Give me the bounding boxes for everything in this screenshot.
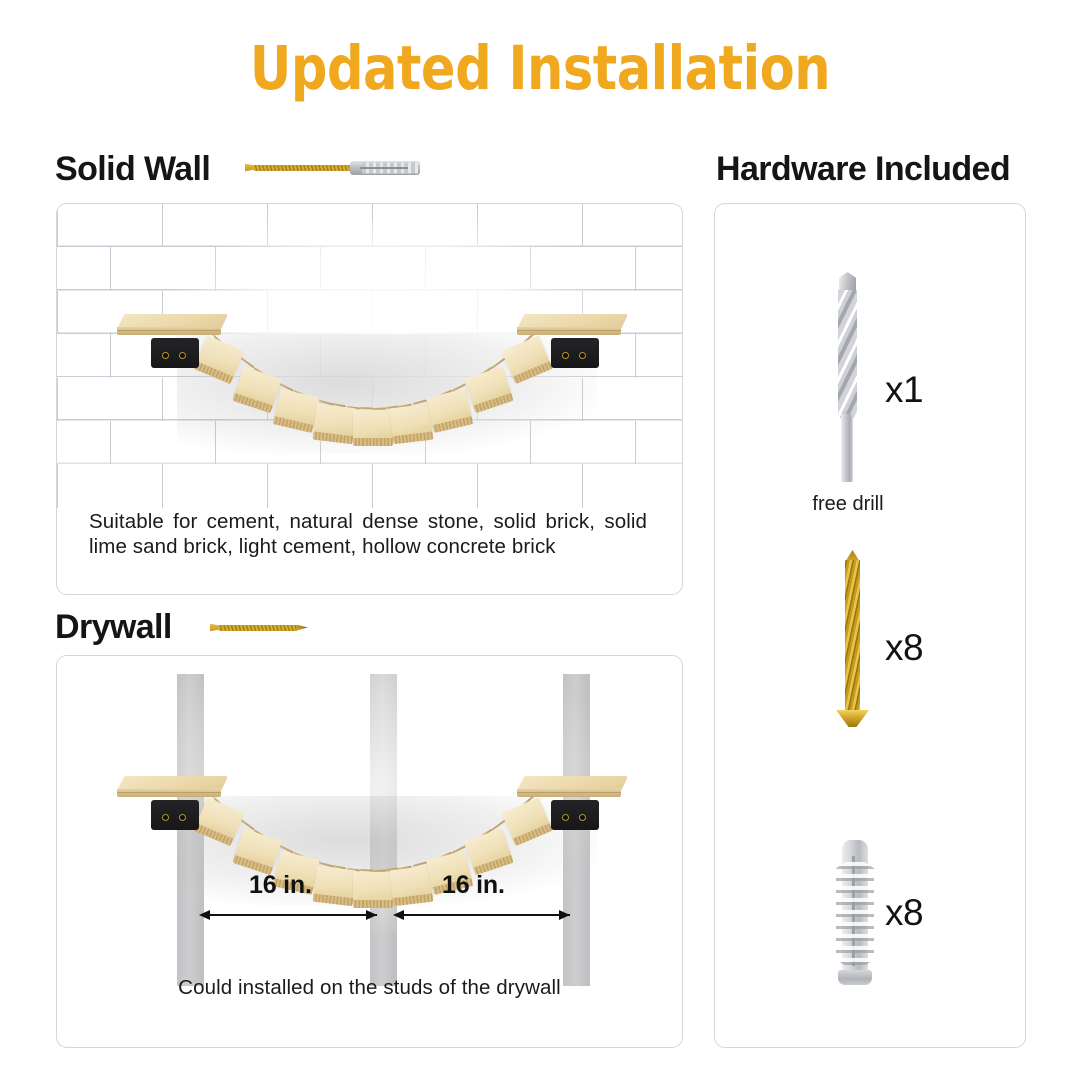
section-heading-drywall: Drywall — [55, 608, 172, 647]
wall-shelf-left — [117, 776, 221, 796]
drywall-scene: 16 in. 16 in. — [57, 656, 682, 986]
bridge-rope — [518, 797, 533, 810]
wall-stud — [563, 674, 590, 986]
anchor-slot — [360, 167, 408, 169]
screw-shank — [254, 165, 350, 171]
bridge-plank — [464, 828, 511, 869]
bridge-rope — [439, 852, 453, 860]
bridge-rope — [267, 838, 281, 848]
bridge-rope — [426, 857, 440, 864]
screw-tip — [296, 625, 308, 631]
infographic-canvas: Updated Installation Solid Wall Suitable… — [0, 0, 1080, 1080]
bridge-rope — [531, 784, 546, 798]
shelf-edge — [117, 789, 221, 797]
dimension-label-right: 16 in. — [442, 871, 505, 900]
wall-anchor-icon — [350, 159, 420, 177]
page-title: Updated Installation — [38, 33, 1042, 104]
screw-shank — [219, 625, 297, 631]
bracket-screw-hole — [162, 814, 169, 821]
brick-wall-scene — [57, 204, 682, 506]
hardware-count-anchor: x8 — [885, 892, 923, 934]
dimension-line-right — [397, 914, 570, 916]
dimension-arrow-right-end — [559, 910, 570, 920]
bridge-rope — [346, 868, 359, 872]
section-heading-hardware: Hardware Included — [716, 150, 1010, 189]
hardware-caption-drill: free drill — [770, 493, 926, 516]
drill-bit-flute — [838, 290, 857, 418]
bridge-rope — [478, 829, 493, 840]
bridge-plank — [313, 865, 356, 900]
solid-wall-caption: Suitable for cement, natural dense stone… — [89, 509, 647, 559]
screw-icon — [210, 621, 310, 634]
bridge-plank — [502, 797, 551, 840]
bridge-rope — [320, 862, 334, 868]
dimension-arrow-left-start — [199, 910, 210, 920]
brick-mortar-joints — [57, 204, 682, 506]
bridge-rope — [465, 838, 479, 848]
drywall-caption: Could installed on the studs of the dryw… — [56, 976, 683, 1000]
dimension-arrow-left-end — [366, 910, 377, 920]
dimension-line-left — [203, 914, 377, 916]
bridge-rope — [227, 809, 242, 822]
screw-icon — [835, 560, 869, 735]
wall-anchor-icon — [833, 840, 877, 990]
screw-icon — [245, 161, 365, 174]
bridge-rope — [505, 809, 520, 822]
bridge-rope — [333, 865, 347, 870]
hardware-count-screw: x8 — [885, 627, 923, 669]
solid-wall-panel: Suitable for cement, natural dense stone… — [56, 203, 683, 595]
bridge-rope — [213, 797, 228, 810]
bridge-rope — [452, 845, 466, 854]
bridge-rope — [306, 857, 320, 864]
screw-head — [836, 710, 869, 727]
bridge-plank — [235, 828, 282, 869]
bridge-rope — [399, 865, 413, 870]
anchor-fins — [836, 862, 874, 966]
wall-stud — [177, 674, 204, 986]
anchor-collar — [838, 970, 872, 985]
hardware-count-drill: x1 — [885, 369, 923, 411]
bridge-rope — [293, 852, 307, 860]
bridge-rope — [240, 819, 255, 831]
dimension-label-left: 16 in. — [249, 871, 312, 900]
drill-bit-shank — [841, 414, 853, 482]
bridge-rope — [253, 829, 268, 840]
bridge-rope — [280, 845, 294, 854]
shelf-surface — [117, 776, 228, 791]
screw-shank — [845, 560, 860, 715]
drill-bit-icon — [828, 272, 868, 482]
bridge-rope — [491, 819, 506, 831]
bridge-rope — [412, 862, 426, 868]
dimension-arrow-right-start — [393, 910, 404, 920]
wall-stud — [370, 674, 397, 986]
section-heading-solid-wall: Solid Wall — [55, 150, 210, 189]
